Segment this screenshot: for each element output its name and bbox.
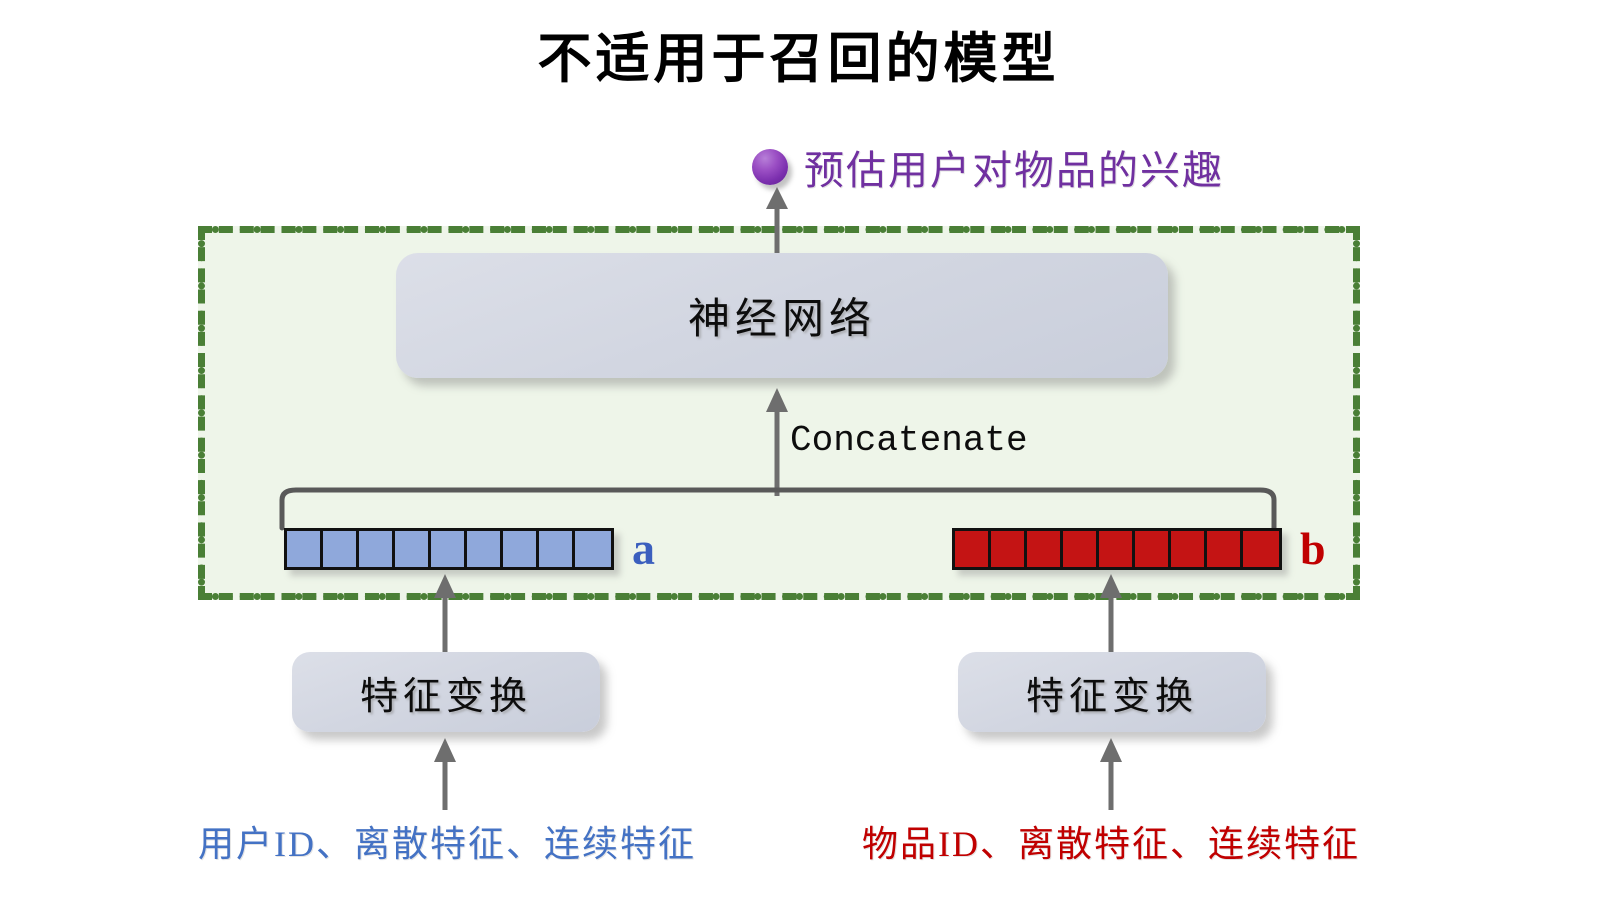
neural-network-box: 神经网络 xyxy=(396,253,1168,378)
input-features-right-label: 物品ID、离散特征、连续特征 xyxy=(862,815,1360,867)
vector-cell xyxy=(1243,531,1279,567)
vector-cell xyxy=(287,531,323,567)
vector-cell xyxy=(1027,531,1063,567)
vector-cell xyxy=(1063,531,1099,567)
vector-cell xyxy=(539,531,575,567)
vector-cell xyxy=(323,531,359,567)
output-node: 预估用户对物品的兴趣 xyxy=(752,138,1224,196)
vector-cell xyxy=(991,531,1027,567)
vector-cell xyxy=(1099,531,1135,567)
vector-cell xyxy=(359,531,395,567)
vector-cell xyxy=(955,531,991,567)
vector-cell xyxy=(1135,531,1171,567)
embedding-vector-b: b xyxy=(952,526,1326,572)
arrow-up-to-feature-transform-left xyxy=(430,736,460,810)
vector-cell xyxy=(395,531,431,567)
page-title: 不适用于召回的模型 xyxy=(0,14,1597,93)
embedding-vector-a: a xyxy=(284,526,655,572)
vector-a-cells xyxy=(284,528,614,570)
vector-cell xyxy=(503,531,539,567)
vector-cell xyxy=(575,531,611,567)
feature-transform-left-label: 特征变换 xyxy=(360,665,532,720)
vector-cell xyxy=(1207,531,1243,567)
neural-network-label: 神经网络 xyxy=(688,285,876,346)
feature-transform-box-left: 特征变换 xyxy=(292,652,600,732)
feature-transform-right-label: 特征变换 xyxy=(1026,665,1198,720)
vector-cell xyxy=(431,531,467,567)
feature-transform-box-right: 特征变换 xyxy=(958,652,1266,732)
arrow-up-to-feature-transform-right xyxy=(1096,736,1126,810)
vector-b-label: b xyxy=(1300,526,1326,572)
output-label: 预估用户对物品的兴趣 xyxy=(804,138,1224,196)
vector-cell xyxy=(467,531,503,567)
arrow-up-to-vector-a xyxy=(430,572,460,654)
arrow-up-to-neural-network xyxy=(762,386,792,496)
purple-sphere-icon xyxy=(752,149,788,185)
vector-a-label: a xyxy=(632,526,655,572)
concat-bracket xyxy=(278,484,1278,528)
concatenate-label: Concatenate xyxy=(790,420,1028,461)
vector-cell xyxy=(1171,531,1207,567)
arrow-up-to-output xyxy=(762,185,792,257)
arrow-up-to-vector-b xyxy=(1096,572,1126,654)
input-features-left-label: 用户ID、离散特征、连续特征 xyxy=(198,815,696,867)
vector-b-cells xyxy=(952,528,1282,570)
